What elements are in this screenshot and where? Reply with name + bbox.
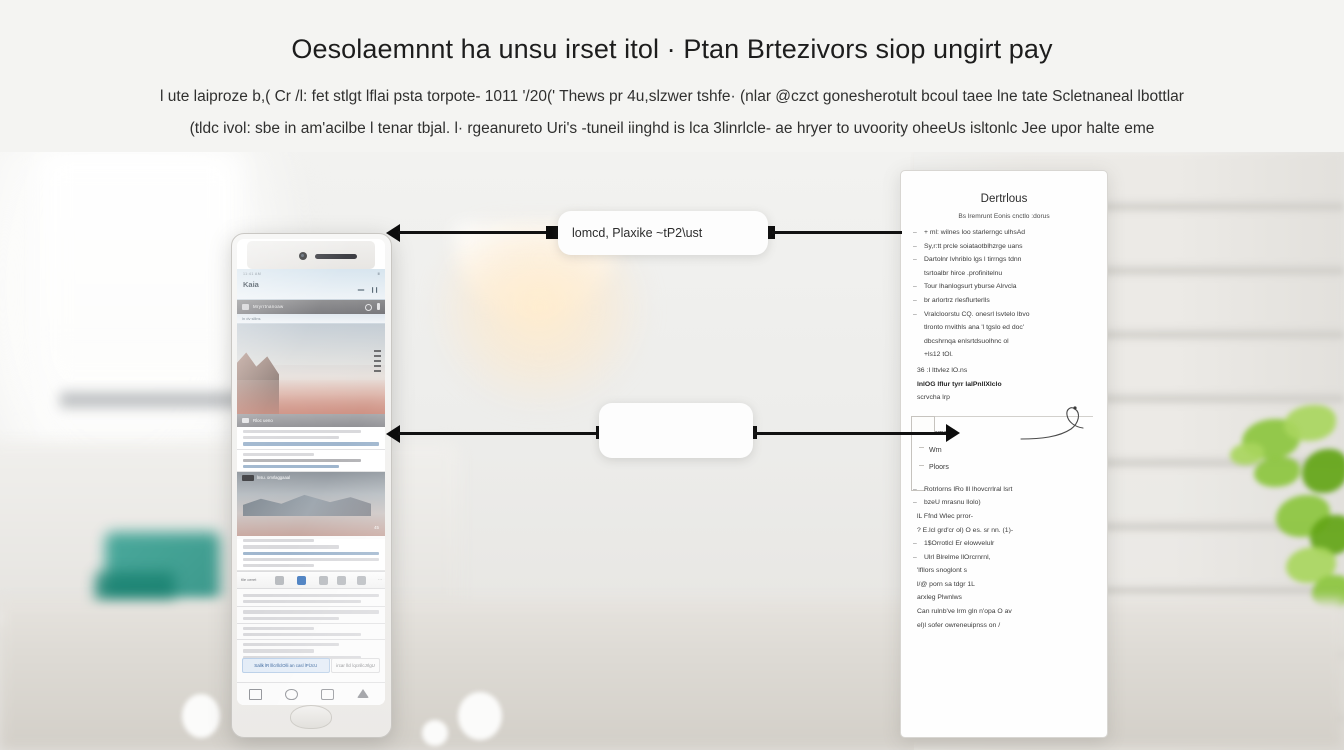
phone-notch — [247, 241, 375, 269]
circle-icon — [242, 304, 249, 310]
list-item-emphasis: lnlOG lflur tyrr lalPnllXlclo — [913, 379, 1093, 391]
document-panel: Dertrlous Bs lremrunt Eonis cnctlo :doru… — [900, 170, 1108, 738]
pin-icon[interactable] — [377, 303, 380, 310]
tree-item[interactable]: Wrn — [927, 442, 1093, 459]
connector-line-1-left — [398, 231, 556, 234]
rectangle-icon[interactable] — [321, 689, 334, 700]
arrowhead-to-document — [946, 424, 960, 442]
background-window-pane — [40, 152, 240, 482]
document-bullets-top: + ml: wilnes loo starlerngc ulhsAd Sy,r:… — [901, 227, 1107, 361]
text-line — [243, 459, 361, 462]
divider — [237, 606, 385, 607]
media-count: 45 — [374, 525, 379, 530]
connector-line-2-left — [398, 432, 598, 435]
trash-icon[interactable] — [357, 576, 366, 585]
screenshot-stage: Oesolaemnnt ha unsu irset itol · Ptan Br… — [0, 0, 1344, 750]
list-item: Dartolnr lvhriblo lgs l tirrngs tdnn — [913, 254, 1093, 266]
form-row[interactable] — [243, 633, 361, 636]
divider — [237, 623, 385, 624]
background-object-round-3 — [422, 720, 448, 746]
earpiece-speaker-icon — [315, 254, 357, 259]
editor-toolbar[interactable]: tlle oeret ··· — [237, 571, 385, 589]
list-item-continuation: +ls12 tOl. — [913, 349, 1093, 361]
page-subtitle-line-2: (tldc ivol: sbe in am'acilbe l tenar tbj… — [0, 120, 1344, 138]
primary-action-button[interactable]: Sallk lR lllcrllclOlli an casl lPlJcU — [242, 658, 330, 673]
content-card-2[interactable]: Rloc ueno — [237, 414, 385, 472]
tree-item[interactable]: Ploors — [927, 459, 1093, 476]
secondary-action-button[interactable]: ircar llcl lqcnllcJrlgU — [331, 658, 380, 673]
list-item-continuation: tlronto rnvithls ana 'l tgslo ed doc' — [913, 322, 1093, 334]
list-item: Can rulnb've lrm gln n'opa O av — [913, 606, 1093, 618]
app-screen: 11:41 AM lll Kaia — [237, 269, 385, 705]
document-bullets-bottom: Rotrlorns lRo lll lhovcrrlral lsrt bzeU … — [901, 484, 1107, 632]
folder-icon — [911, 416, 935, 433]
background-object-round-1 — [182, 694, 220, 738]
toolbar-label: tlle oeret — [241, 577, 256, 582]
phone-mockup: 11:41 AM lll Kaia — [231, 233, 392, 738]
hero-side-controls[interactable] — [374, 350, 381, 384]
tree-branch — [919, 447, 924, 448]
form-row[interactable] — [243, 617, 339, 620]
list-item: + ml: wilnes loo starlerngc ulhsAd — [913, 227, 1093, 239]
action-button-row: Sallk lR lllcrllclOlli an casl lPlJcU ir… — [242, 658, 380, 671]
page-title: Oesolaemnnt ha unsu irset itol · Ptan Br… — [0, 34, 1344, 65]
list-item: 1$Orrotlcl Er elowvelulr — [913, 538, 1093, 550]
list-item: Ulrl Blrelme llOrcrnrnl, — [913, 552, 1093, 564]
share-icon[interactable] — [357, 689, 369, 698]
hero-sky — [237, 324, 385, 365]
list-item: 'lfllors snoglont s — [913, 565, 1093, 577]
text-line — [243, 436, 339, 439]
status-bar-left: 11:41 AM — [243, 272, 261, 276]
list-item: arxleg Plwnlws — [913, 592, 1093, 604]
document-lead: Bs lremrunt Eonis cnctlo :dorus — [901, 213, 1107, 220]
list-item: br arlortrz rlesflurterlls — [913, 295, 1093, 307]
primary-action-label: Sallk lR lllcrllclOlli an casl lPlJcU — [243, 659, 329, 672]
content-card-2-header: Rloc ueno — [237, 414, 385, 427]
background-object-round-2 — [458, 692, 502, 740]
content-card-3-body — [237, 539, 385, 571]
minimize-icon[interactable] — [357, 281, 365, 289]
divider — [237, 639, 385, 640]
section-header-1: Mryrrtnanoaw — [237, 300, 385, 314]
content-card-3-caption: lnsu. omrlaggaaal — [257, 475, 290, 480]
list-item: l/@ porn sa tdgr 1L — [913, 579, 1093, 591]
document-icon — [242, 418, 249, 423]
document-title: Dertrlous — [901, 193, 1107, 205]
connector-line-1-right — [772, 231, 902, 234]
divider — [237, 449, 385, 450]
home-button[interactable] — [290, 705, 332, 729]
list-item: 36 :I lttvlez lO.ns — [913, 365, 1093, 377]
media-badge — [242, 475, 254, 481]
list-item: Vralcloorstu CQ. onesrl lsvtelo lbvo — [913, 309, 1093, 321]
text-line — [243, 430, 361, 433]
tree-vertical-line — [911, 432, 912, 490]
callout-box-1-label: lomcd, Plaxike ~tP2\ust — [572, 226, 702, 240]
form-row[interactable] — [243, 600, 361, 603]
form-row[interactable] — [243, 649, 314, 652]
crop-icon[interactable] — [319, 576, 328, 585]
list-item: lL Ffnd Wlec prror- — [913, 511, 1093, 523]
list-item: Rotrlorns lRo lll lhovcrrlral lsrt — [913, 484, 1093, 496]
media-landscape — [243, 488, 371, 516]
form-row[interactable] — [243, 610, 379, 613]
back-icon[interactable] — [249, 689, 262, 700]
bottom-nav-bar[interactable] — [237, 682, 385, 705]
hero-water — [237, 380, 385, 414]
text-line-link[interactable] — [243, 465, 339, 468]
connector-line-2-right — [754, 432, 948, 435]
section-header-1-label: Mryrrtnanoaw — [253, 304, 283, 309]
list-item: Tour lhanlogsurt yburse Alrvcla — [913, 281, 1093, 293]
text-line — [243, 545, 339, 548]
content-card-2-title: Rloc ueno — [253, 418, 273, 423]
callout-box-1[interactable]: lomcd, Plaxike ~tP2\ust — [558, 211, 768, 255]
list-item: bzeU mrasnu llolo) — [913, 497, 1093, 509]
text-line-link[interactable] — [243, 552, 379, 555]
secondary-action-label: ircar llcl lqcnllcJrlgU — [332, 659, 379, 672]
list-item: Sy,r:tt prcle soiataotblhzrge uans — [913, 241, 1093, 253]
text-line — [243, 539, 314, 542]
app-header: 11:41 AM lll Kaia — [237, 269, 385, 300]
text-line — [243, 558, 379, 561]
history-icon[interactable] — [285, 689, 298, 700]
form-row[interactable] — [243, 594, 379, 597]
list-item: ? E.lcl grd'cr ol) O es. sr nn. (1)- — [913, 525, 1093, 537]
text-line-link[interactable] — [243, 442, 379, 445]
list-item-continuation: tsrtoalbr hirce .profinitelnu — [913, 268, 1093, 280]
more-icon[interactable]: ··· — [378, 577, 382, 582]
list-item-continuation: dbcshrnqa enlsrtdsuolhnc ol — [913, 336, 1093, 348]
text-line — [243, 453, 314, 456]
status-bar-right: lll — [378, 272, 380, 276]
form-row[interactable] — [243, 627, 314, 630]
header-block: Oesolaemnnt ha unsu irset itol · Ptan Br… — [0, 0, 1344, 152]
callout-box-2[interactable] — [599, 403, 753, 458]
image-icon[interactable] — [297, 576, 306, 585]
app-title: Kaia — [243, 280, 259, 289]
document-bullets-trailing: 36 :I lttvlez lO.ns lnlOG lflur tyrr lal… — [901, 365, 1107, 404]
front-camera-icon — [299, 252, 307, 260]
tree-branch — [919, 465, 924, 466]
grid-icon[interactable] — [275, 576, 284, 585]
list-item: scrvcha lrp — [913, 392, 1093, 404]
text-line — [243, 564, 314, 567]
sub-bar-1: ln dv slllns — [237, 314, 385, 324]
phone-screen: 11:41 AM lll Kaia — [237, 239, 385, 705]
circle-outline-icon[interactable] — [365, 304, 372, 311]
link-icon[interactable] — [337, 576, 346, 585]
content-card-3-media[interactable]: lnsu. omrlaggaaal 45 — [237, 472, 385, 536]
sub-bar-1-label: ln dv slllns — [242, 316, 260, 321]
menu-icon[interactable] — [371, 281, 379, 289]
list-item: el)l sofer owreneuipnss on / — [913, 620, 1093, 632]
page-subtitle-line-1: l ute laiproze b,( Cr /l: fet stlgt lfla… — [0, 88, 1344, 106]
form-row[interactable] — [243, 643, 339, 646]
form-rows — [237, 589, 385, 659]
hero-image-card[interactable] — [237, 324, 385, 414]
